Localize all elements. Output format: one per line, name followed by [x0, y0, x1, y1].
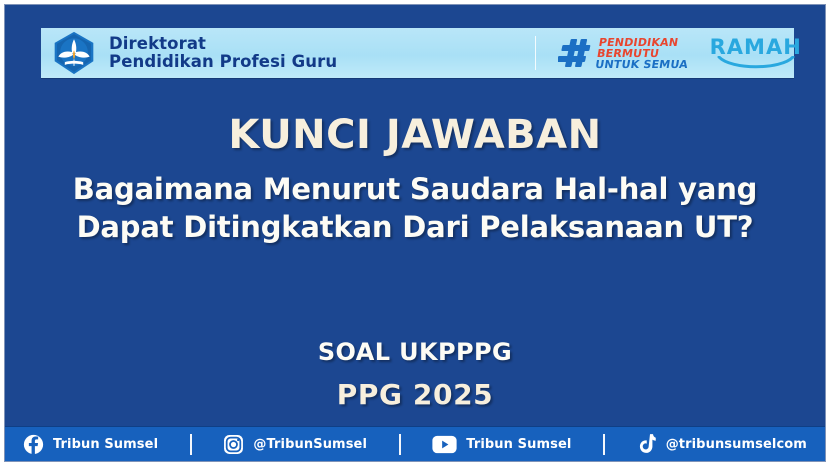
facebook-icon: [23, 434, 44, 455]
tut-wuri-handayani-logo: [51, 30, 97, 76]
footer-separator-3: [603, 434, 605, 455]
social-item-tiktok[interactable]: @tribunsumselcom: [637, 433, 807, 455]
social-label-youtube: Tribun Sumsel: [466, 437, 571, 452]
social-label-tiktok: @tribunsumselcom: [666, 437, 807, 452]
ramah-logo: RAMAH: [710, 37, 802, 69]
question-text: Bagaimana Menurut Saudara Hal-hal yang D…: [5, 170, 825, 247]
campaign-word-2: BERMUTU: [596, 48, 690, 59]
campaign-word-3: UNTUK SEMUA: [594, 59, 688, 70]
tiktok-icon: [637, 433, 657, 455]
page-title: KUNCI JAWABAN: [5, 113, 825, 158]
social-item-youtube[interactable]: Tribun Sumsel: [432, 435, 571, 454]
year-label: PPG 2025: [5, 378, 825, 411]
smile-curve-icon: [717, 56, 795, 69]
instagram-icon: [223, 434, 244, 455]
campaign-words: PENDIDIKAN BERMUTU UNTUK SEMUA: [594, 37, 692, 70]
footer-separator-1: [190, 434, 192, 455]
social-label-instagram: @TribunSumsel: [253, 437, 367, 452]
social-footer: Tribun Sumsel @TribunSumsel Tribun S: [5, 426, 825, 461]
poster-canvas: Direktorat Pendidikan Profesi Guru: [0, 0, 830, 466]
campaign-lockup: PENDIDIKAN BERMUTU UNTUK SEMUA: [558, 37, 690, 70]
banner-left-group: Direktorat Pendidikan Profesi Guru: [41, 30, 535, 76]
campaign-word-1: PENDIDIKAN: [598, 37, 692, 48]
department-line-1: Direktorat: [109, 35, 337, 53]
social-item-facebook[interactable]: Tribun Sumsel: [23, 434, 158, 455]
social-label-facebook: Tribun Sumsel: [53, 437, 158, 452]
ramah-wordmark: RAMAH: [710, 37, 802, 58]
question-line-2: Dapat Ditingkatkan Dari Pelaksanaan UT?: [23, 208, 807, 247]
question-line-1: Bagaimana Menurut Saudara Hal-hal yang: [23, 170, 807, 209]
social-item-instagram[interactable]: @TribunSumsel: [223, 434, 367, 455]
hashtag-icon: [558, 38, 592, 68]
subject-label: SOAL UKPPPG: [5, 338, 825, 366]
subject-block: SOAL UKPPPG PPG 2025: [5, 338, 825, 411]
department-line-2: Pendidikan Profesi Guru: [109, 53, 337, 71]
youtube-icon: [432, 435, 457, 454]
headline-block: KUNCI JAWABAN Bagaimana Menurut Saudara …: [5, 113, 825, 247]
header-banner: Direktorat Pendidikan Profesi Guru: [41, 28, 794, 78]
poster-background: Direktorat Pendidikan Profesi Guru: [4, 4, 826, 462]
banner-right-group: PENDIDIKAN BERMUTU UNTUK SEMUA RAMAH: [536, 37, 802, 70]
footer-separator-2: [399, 434, 401, 455]
department-title: Direktorat Pendidikan Profesi Guru: [109, 35, 337, 72]
